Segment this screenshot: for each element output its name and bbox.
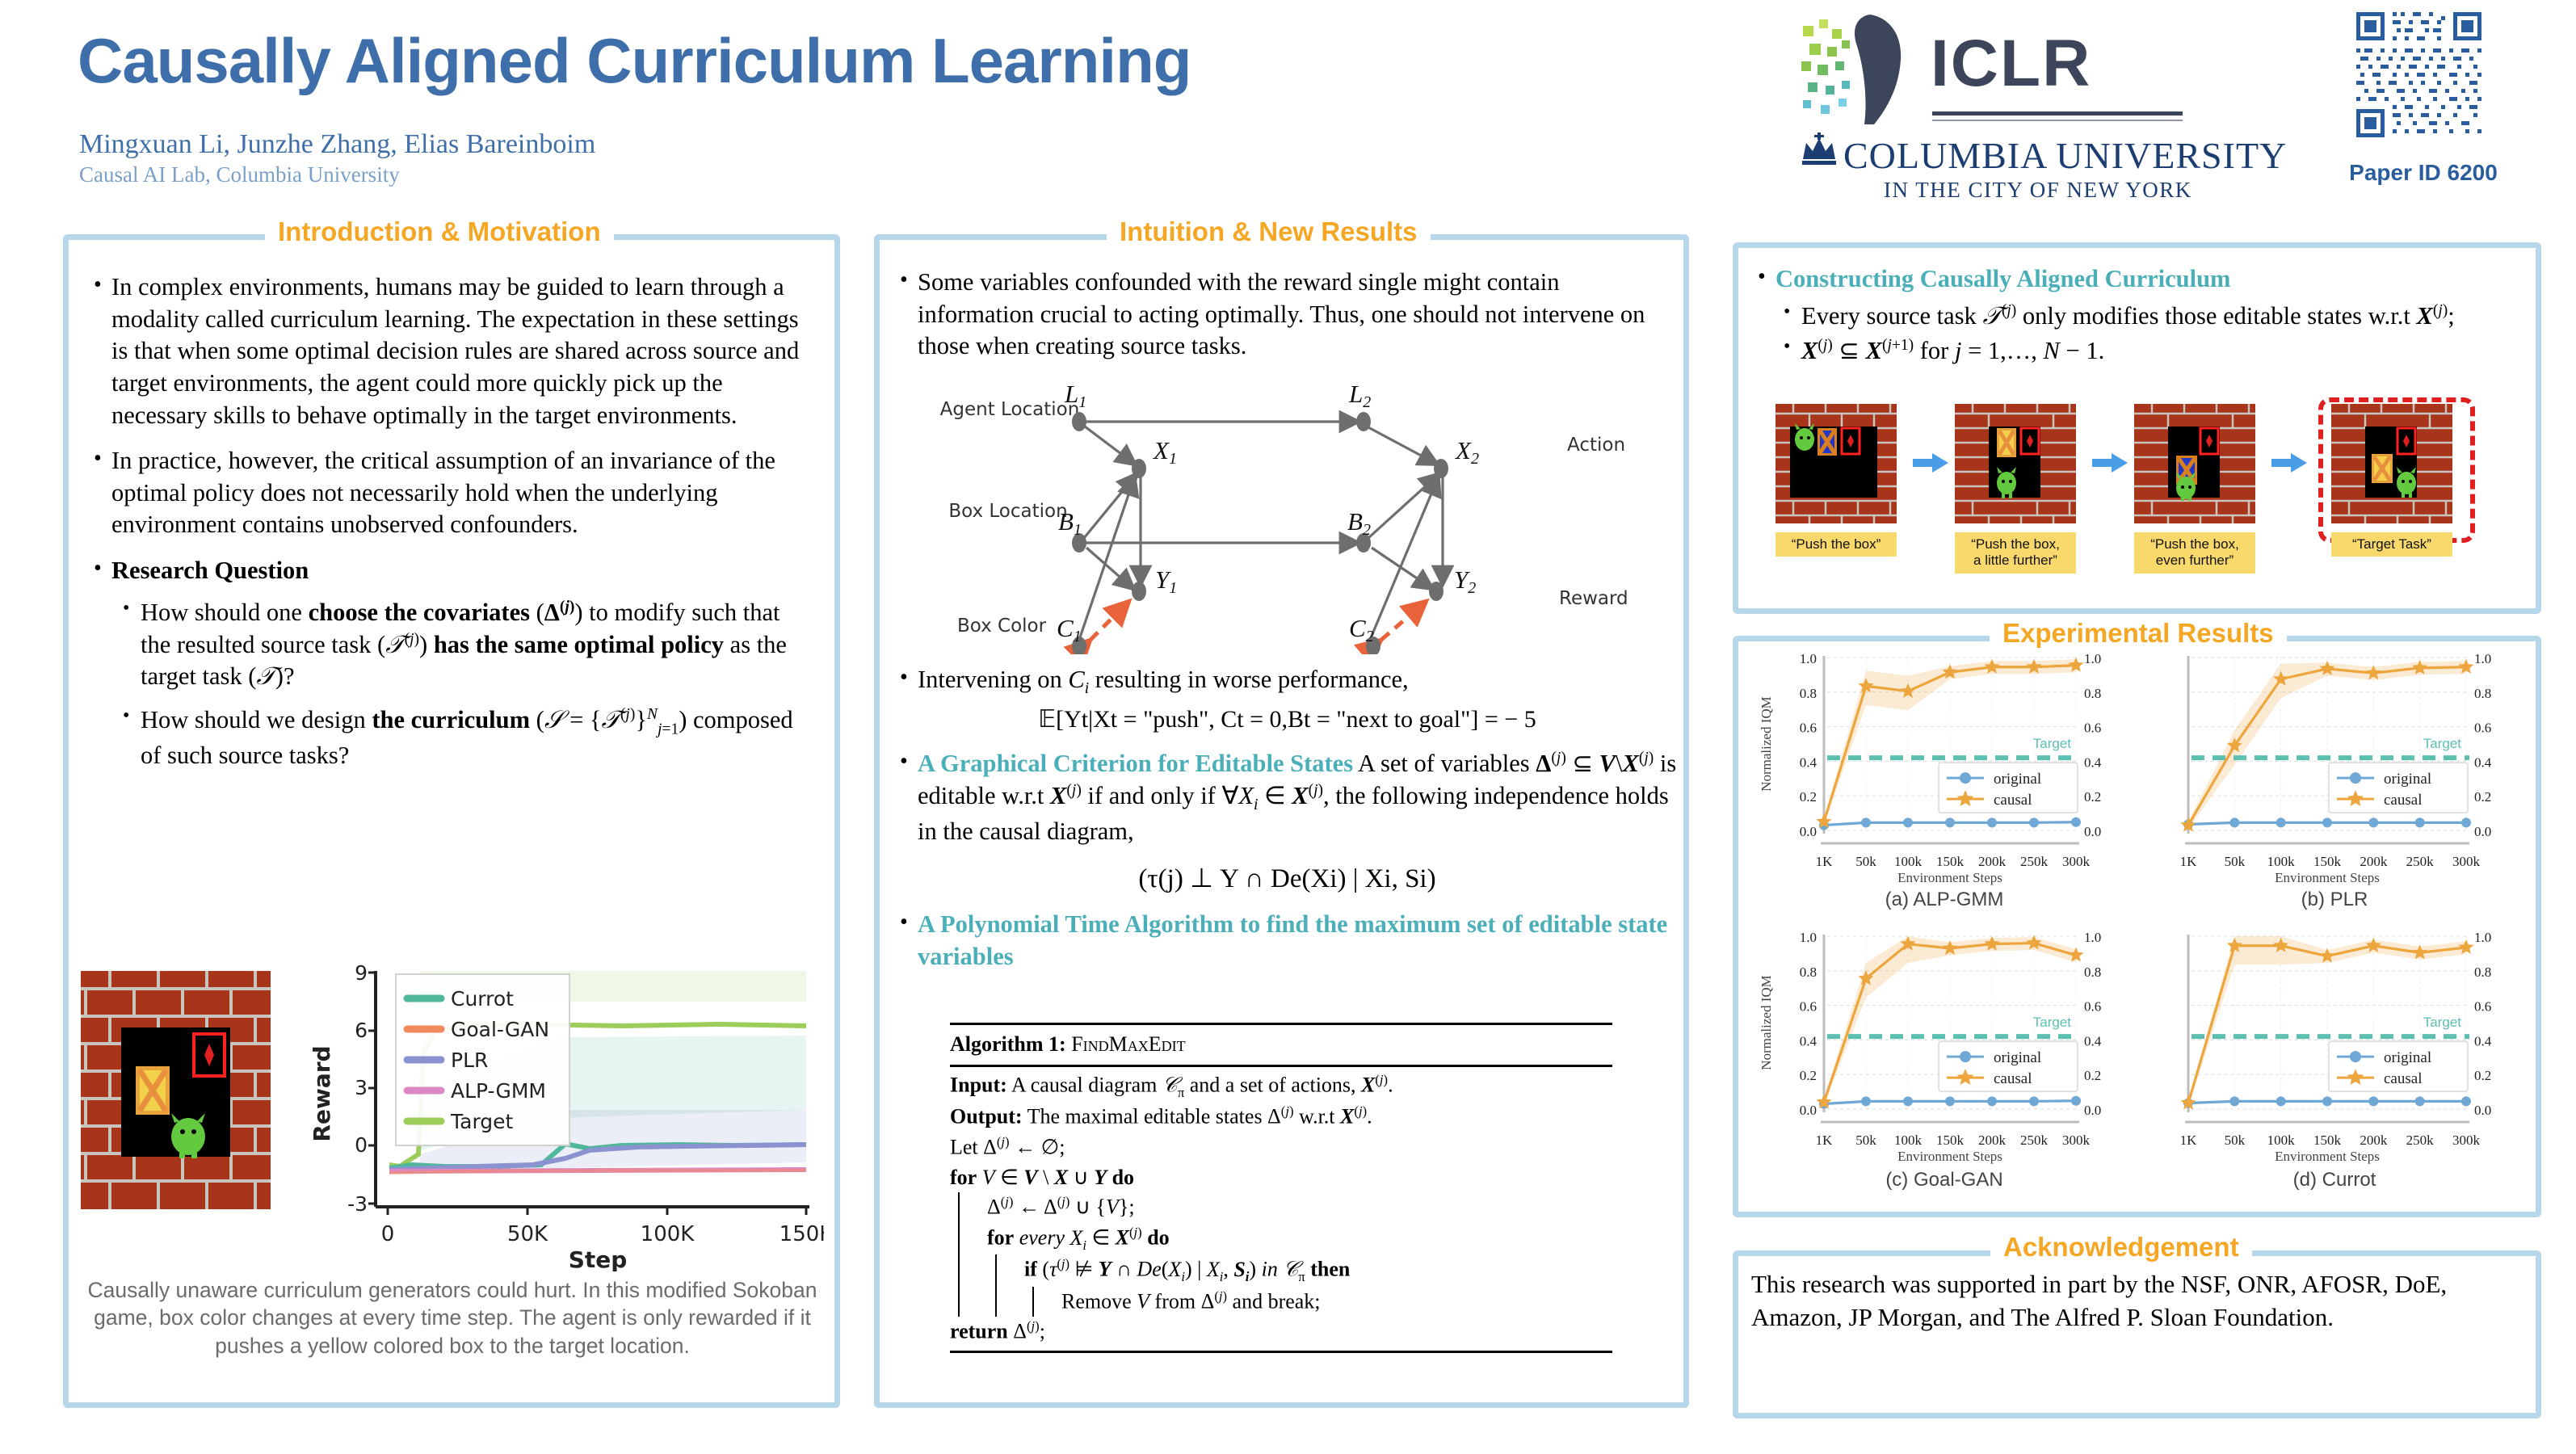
construct-bullet-2: X(j) ⊆ X(j+1) for j = 1,…, N − 1. [1775, 335, 2519, 368]
svg-text:Target: Target [2033, 1015, 2072, 1030]
svg-text:9: 9 [355, 961, 368, 985]
svg-text:Environment Steps: Environment Steps [1897, 870, 2002, 885]
svg-text:100k: 100k [2267, 854, 2296, 869]
svg-text:50k: 50k [1855, 1133, 1876, 1148]
intro-figure: 963 0-3 050K100K150K Step Reward [81, 956, 824, 1288]
diagram-label-reward: Reward [1559, 588, 1628, 609]
svg-text:0.0: 0.0 [2474, 1103, 2491, 1118]
algo-rule-bottom [950, 1351, 1612, 1353]
intuition-bullet-1: Some variables confounded with the rewar… [893, 267, 1681, 363]
node-label-B2: B2 [1347, 507, 1371, 539]
algorithm-procedure-name: FindMaxEdit [1071, 1032, 1185, 1056]
svg-text:1.0: 1.0 [2084, 651, 2101, 666]
svg-text:Reward: Reward [309, 1045, 335, 1141]
diagram-label-action: Action [1567, 435, 1625, 456]
svg-text:200k: 200k [2360, 1133, 2388, 1148]
svg-text:250k: 250k [2406, 854, 2435, 869]
svg-text:0.8: 0.8 [2084, 964, 2101, 980]
acknowledgement-text: This research was supported in part by t… [1751, 1268, 2527, 1334]
svg-text:1.0: 1.0 [2084, 930, 2101, 945]
svg-text:0.2: 0.2 [1800, 789, 1817, 805]
svg-text:0.6: 0.6 [1800, 999, 1817, 1015]
construct-heading-bullet: Constructing Causally Aligned Curriculum [1751, 263, 2519, 296]
svg-text:0.6: 0.6 [2474, 999, 2491, 1015]
svg-text:1.0: 1.0 [1800, 651, 1817, 666]
node-label-X2: X2 [1454, 436, 1479, 468]
svg-text:0.4: 0.4 [2474, 754, 2492, 770]
node-label-C1: C1 [1057, 614, 1082, 645]
svg-text:1.0: 1.0 [2474, 651, 2491, 666]
svg-text:0.6: 0.6 [2084, 721, 2101, 736]
affiliation: Causal AI Lab, Columbia University [79, 162, 400, 187]
chart-caption-d: (d) Currot [2145, 1169, 2524, 1191]
svg-text:0.4: 0.4 [1800, 754, 1817, 770]
node-label-Y2: Y2 [1454, 565, 1476, 597]
node-label-B1: B1 [1058, 507, 1082, 539]
panel-title-intuition: Intuition & New Results [1107, 216, 1431, 247]
svg-text:300k: 300k [2062, 854, 2091, 869]
svg-text:Normalized IQM: Normalized IQM [1759, 975, 1774, 1070]
intuition-bullet-2: Intervening on Ci resulting in worse per… [893, 664, 1681, 699]
svg-text:original: original [2384, 1049, 2431, 1066]
chart-goal-gan: 0.00.00.20.20.40.40.60.60.80.81.01.01K50… [1754, 925, 2134, 1167]
svg-text:0.6: 0.6 [2084, 999, 2101, 1015]
author-list: Mingxuan Li, Junzhe Zhang, Elias Bareinb… [79, 129, 595, 160]
chart-caption-c: (c) Goal-GAN [1754, 1169, 2134, 1191]
equation-expected-reward: 𝔼[Yt|Xt = "push", Ct = 0,Bt = "next to g… [893, 704, 1681, 735]
algorithm-box: Algorithm 1: FindMaxEdit Input: A causal… [950, 1019, 1612, 1356]
algorithm-header: Algorithm 1: FindMaxEdit [950, 1030, 1612, 1060]
svg-text:0.8: 0.8 [1800, 686, 1817, 701]
svg-text:3: 3 [355, 1076, 368, 1099]
svg-text:150K: 150K [780, 1222, 824, 1246]
iclr-wordmark: ICLR [1931, 26, 2091, 102]
svg-text:100k: 100k [1894, 854, 1923, 869]
svg-text:0.2: 0.2 [2084, 789, 2101, 805]
svg-text:0.4: 0.4 [2474, 1033, 2492, 1048]
svg-text:causal: causal [2384, 1070, 2422, 1087]
svg-text:250k: 250k [2406, 1133, 2435, 1148]
svg-text:0.2: 0.2 [2084, 1068, 2101, 1083]
node-label-L1: L1 [1064, 380, 1086, 411]
svg-text:original: original [2384, 771, 2431, 788]
legend-currot: Currot [451, 987, 514, 1011]
svg-text:1K: 1K [2180, 854, 2198, 869]
svg-text:150k: 150k [2313, 1133, 2342, 1148]
algo-for-inner: for every Xi ∈ X(j) do [987, 1223, 1612, 1254]
poster-header: Causally Aligned Curriculum Learning Min… [0, 0, 2576, 208]
algo-let: Let Δ(j) ← ∅; [950, 1133, 1612, 1163]
legend-alpgmm: ALP-GMM [451, 1079, 546, 1103]
curriculum-label-4: “Target Task” [2331, 532, 2452, 557]
curriculum-image-4 [2331, 404, 2452, 523]
curriculum-label-3: “Push the box, even further” [2134, 532, 2255, 574]
node-label-Y1: Y1 [1155, 565, 1177, 597]
svg-text:Target: Target [2033, 736, 2072, 751]
algo-assign: Δ(j) ← Δ(j) ∪ {V}; [987, 1192, 1612, 1223]
svg-text:200k: 200k [1978, 1133, 2007, 1148]
svg-text:1K: 1K [1816, 1133, 1834, 1148]
algorithm-number: Algorithm 1: [950, 1032, 1066, 1056]
svg-text:0.0: 0.0 [1800, 1103, 1817, 1118]
svg-text:150k: 150k [2313, 854, 2342, 869]
svg-text:Target: Target [2423, 736, 2462, 751]
introduction-body: In complex environments, humans may be g… [87, 271, 814, 783]
svg-text:0: 0 [355, 1133, 368, 1157]
svg-text:causal: causal [2384, 792, 2422, 809]
svg-text:0.8: 0.8 [2474, 686, 2491, 701]
svg-text:Environment Steps: Environment Steps [2275, 1149, 2380, 1164]
curriculum-strip: “Push the box” [1753, 404, 2520, 598]
construct-heading: Constructing Causally Aligned Curriculum [1775, 265, 2230, 292]
svg-text:0.8: 0.8 [2084, 686, 2101, 701]
svg-text:0.8: 0.8 [1800, 964, 1817, 980]
equation-independence: (τ(j) ⊥ Y ∩ De(Xi) | Xi, Si) [893, 862, 1681, 897]
paper-id-label: Paper ID 6200 [2343, 160, 2504, 186]
chart-alp-gmm: 0.00.00.20.20.40.40.60.60.80.81.01.01K50… [1754, 646, 2134, 889]
svg-text:0.2: 0.2 [2474, 1068, 2491, 1083]
curriculum-step-4-target: “Target Task” [2331, 404, 2452, 557]
svg-text:1.0: 1.0 [1800, 930, 1817, 945]
svg-text:1.0: 1.0 [2474, 930, 2491, 945]
curriculum-image-2 [1955, 404, 2076, 523]
iclr-brain-icon [1793, 11, 1923, 132]
svg-text:0.2: 0.2 [2474, 789, 2491, 805]
intuition-body-2: Intervening on Ci resulting in worse per… [893, 664, 1681, 987]
svg-text:0.4: 0.4 [2084, 1033, 2102, 1048]
panel-title-introduction: Introduction & Motivation [265, 216, 614, 247]
algo-if: if (τ(j) ⊭ Y ∩ De(Xi) | Xi, Si) in 𝒞π th… [1024, 1254, 1612, 1286]
intro-bullet-2: In practice, however, the critical assum… [87, 445, 814, 541]
svg-text:0.0: 0.0 [1800, 824, 1817, 839]
svg-text:Environment Steps: Environment Steps [2275, 870, 2380, 885]
algo-remove: Remove V from Δ(j) and break; [1061, 1287, 1612, 1317]
svg-text:150k: 150k [1936, 854, 1965, 869]
chart-plr: 0.00.20.40.60.81.01K50k100k150k200k250k3… [2145, 646, 2524, 889]
construct-body: Constructing Causally Aligned Curriculum… [1751, 263, 2519, 379]
node-label-L2: L2 [1348, 380, 1371, 411]
curriculum-step-1: “Push the box” [1775, 404, 1897, 557]
legend-goalgan: Goal-GAN [451, 1018, 549, 1041]
svg-text:-3: -3 [347, 1192, 368, 1216]
svg-text:50k: 50k [2225, 1133, 2246, 1148]
research-question-heading: Research Question [87, 555, 814, 587]
iclr-logo-block: ICLR COLUMBIA UNIVERSITY IN THE CITY OF … [1793, 6, 2278, 200]
intuition-body: Some variables confounded with the rewar… [893, 267, 1681, 376]
algo-rule-mid [950, 1065, 1612, 1067]
algo-rule-top [950, 1023, 1612, 1025]
node-label-C2: C2 [1349, 614, 1374, 645]
svg-text:1K: 1K [2180, 1133, 2198, 1148]
chart-caption-b: (b) PLR [2145, 889, 2524, 911]
diagram-label-agent-location: Agent Location [940, 399, 1080, 420]
svg-text:100K: 100K [641, 1222, 695, 1246]
research-question-2: How should we design the curriculum (𝒮 =… [115, 704, 814, 771]
svg-text:0.4: 0.4 [1800, 1033, 1817, 1048]
research-question-1: How should one choose the covariates (Δ(… [115, 597, 814, 693]
curriculum-label-1: “Push the box” [1775, 532, 1897, 557]
svg-text:100k: 100k [1894, 1133, 1923, 1148]
svg-text:causal: causal [1994, 792, 2032, 809]
algo-return: return Δ(j); [950, 1317, 1612, 1347]
curriculum-image-3 [2134, 404, 2255, 523]
svg-text:0.2: 0.2 [1800, 1068, 1817, 1083]
svg-text:original: original [1994, 1049, 2041, 1066]
svg-text:1K: 1K [1816, 854, 1834, 869]
intro-bullet-1: In complex environments, humans may be g… [87, 271, 814, 431]
svg-text:Target: Target [2423, 1015, 2462, 1030]
diagram-label-box-location: Box Location [948, 501, 1067, 522]
algorithm-heading: A Polynomial Time Algorithm to find the … [918, 910, 1667, 970]
diagram-label-box-color: Box Color [957, 616, 1047, 637]
legend-plr: PLR [451, 1048, 488, 1072]
svg-text:original: original [1994, 771, 2041, 788]
curriculum-step-3: “Push the box, even further” [2134, 404, 2255, 574]
columbia-crown-icon [1800, 132, 1838, 170]
svg-text:0.6: 0.6 [1800, 721, 1817, 736]
svg-text:300k: 300k [2062, 1133, 2091, 1148]
chart-currot: 0.00.20.40.60.81.01K50k100k150k200k250k3… [2145, 925, 2524, 1167]
svg-text:0.0: 0.0 [2084, 824, 2101, 839]
svg-text:0.8: 0.8 [2474, 964, 2491, 980]
curriculum-label-2: “Push the box, a little further” [1955, 532, 2076, 574]
legend-target: Target [450, 1110, 514, 1133]
svg-text:0: 0 [381, 1222, 395, 1246]
svg-text:50k: 50k [1855, 854, 1876, 869]
qr-code-icon[interactable] [2352, 8, 2486, 141]
svg-text:0.4: 0.4 [2084, 754, 2102, 770]
intuition-bullet-criterion: A Graphical Criterion for Editable State… [893, 748, 1681, 847]
reward-line-chart: 963 0-3 050K100K150K Step Reward [299, 956, 824, 1271]
svg-text:Step: Step [569, 1246, 628, 1271]
chart-caption-a: (a) ALP-GMM [1754, 889, 2134, 911]
svg-text:0.0: 0.0 [2084, 1103, 2101, 1118]
svg-text:250k: 250k [2020, 1133, 2049, 1148]
svg-text:0.6: 0.6 [2474, 721, 2491, 736]
svg-text:Normalized IQM: Normalized IQM [1759, 696, 1774, 792]
svg-text:300k: 300k [2452, 854, 2481, 869]
svg-text:300k: 300k [2452, 1133, 2481, 1148]
svg-text:Environment Steps: Environment Steps [1897, 1149, 2002, 1164]
algo-input: Input: A causal diagram 𝒞π and a set of … [950, 1070, 1612, 1102]
arrow-right-icon-1 [1913, 452, 1948, 473]
intuition-bullet-algo: A Polynomial Time Algorithm to find the … [893, 909, 1681, 973]
svg-text:0.0: 0.0 [2474, 824, 2491, 839]
svg-text:causal: causal [1994, 1070, 2032, 1087]
iclr-rule [1932, 111, 2183, 116]
svg-text:6: 6 [355, 1019, 368, 1042]
svg-text:50K: 50K [507, 1222, 548, 1246]
causal-diagram: Agent Location Box Location Box Color Ac… [921, 380, 1648, 654]
arrow-right-icon-2 [2092, 452, 2128, 473]
svg-text:150k: 150k [1936, 1133, 1965, 1148]
arrow-right-icon-3 [2271, 452, 2307, 473]
columbia-university-name: COLUMBIA UNIVERSITY [1843, 134, 2287, 177]
svg-text:100k: 100k [2267, 1133, 2296, 1148]
svg-text:200k: 200k [2360, 854, 2388, 869]
algo-output: Output: The maximal editable states Δ(j)… [950, 1102, 1612, 1133]
research-question-label: Research Question [111, 557, 309, 584]
node-label-X1: X1 [1152, 436, 1177, 468]
algo-for-outer: for V ∈ V \ X ∪ Y do [950, 1163, 1612, 1193]
criterion-heading: A Graphical Criterion for Editable State… [918, 750, 1353, 778]
svg-text:200k: 200k [1978, 854, 2007, 869]
intro-figure-caption: Causally unaware curriculum generators c… [81, 1276, 824, 1359]
curriculum-step-2: “Push the box, a little further” [1955, 404, 2076, 574]
panel-title-experimental: Experimental Results [1990, 618, 2287, 649]
page-title: Causally Aligned Curriculum Learning [78, 24, 1191, 98]
iclr-rule-thin [1932, 120, 2183, 121]
curriculum-image-1 [1775, 404, 1897, 523]
panel-title-acknowledgement: Acknowledgement [1990, 1232, 2252, 1263]
columbia-university-subtitle: IN THE CITY OF NEW YORK [1884, 178, 2192, 203]
qr-block: Paper ID 6200 [2343, 8, 2520, 202]
construct-bullet-1: Every source task 𝒯(j) only modifies tho… [1775, 300, 2519, 333]
sokoban-game-image [81, 971, 271, 1209]
svg-text:50k: 50k [2225, 854, 2246, 869]
svg-text:250k: 250k [2020, 854, 2049, 869]
